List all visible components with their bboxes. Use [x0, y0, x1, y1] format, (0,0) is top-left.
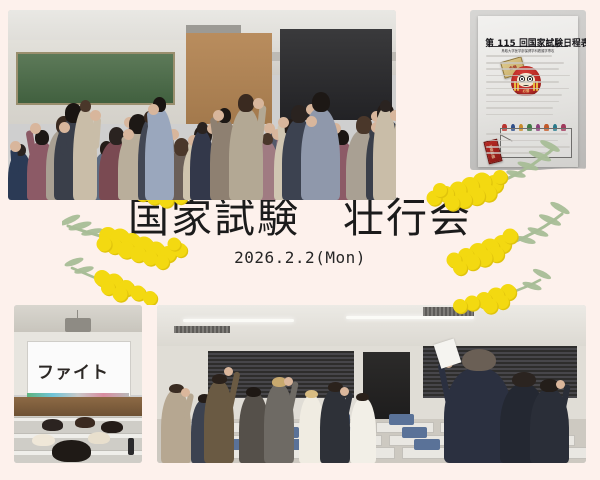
- crowd-silhouettes: [8, 86, 396, 200]
- raised-fist: [278, 117, 289, 128]
- poster-date: 2026.2.2(Mon): [0, 248, 600, 267]
- raised-arm: [437, 363, 451, 404]
- person-head: [462, 349, 496, 372]
- person-silhouette: [350, 398, 376, 463]
- person-head: [212, 374, 227, 384]
- document-text-line: [486, 146, 570, 148]
- person-head: [238, 94, 254, 112]
- person-head: [312, 92, 330, 112]
- water-bottle: [128, 438, 134, 455]
- hero-photo-group-cheering: [8, 10, 396, 200]
- daruma-mouth: [523, 83, 529, 85]
- student-head: [52, 440, 90, 461]
- person-head: [305, 390, 318, 399]
- projection-screen: ファイト: [27, 341, 131, 397]
- person-head: [512, 372, 536, 388]
- student-head: [101, 421, 123, 433]
- document-subtitle: 鳥取大学医学部保健学科看護学専攻: [487, 49, 570, 54]
- hero-photo-scene: [8, 10, 396, 200]
- raised-fist: [556, 380, 565, 389]
- raised-arm: [92, 117, 101, 149]
- document-text-line: [486, 94, 562, 96]
- raised-fist: [123, 129, 134, 140]
- student-head: [88, 432, 110, 444]
- raised-fist: [224, 367, 233, 376]
- faculty-scene: [157, 305, 586, 463]
- raised-fist: [284, 377, 293, 386]
- document-text-line: [486, 62, 564, 64]
- raised-fist: [30, 123, 41, 134]
- projector: [65, 318, 91, 332]
- document-text-line: [486, 140, 558, 142]
- person-head: [246, 387, 261, 397]
- screen-calligraphy-text: ファイト: [37, 358, 109, 383]
- red-tag-label: 必勝祈願: [485, 140, 502, 163]
- raised-fist: [10, 141, 21, 152]
- chalkboard-lower: [14, 397, 142, 416]
- poster-title: 国家試験 壮行会: [0, 198, 600, 239]
- document-text-line: [486, 133, 567, 135]
- daruma-label: 必勝: [519, 90, 533, 93]
- person-head: [80, 100, 91, 112]
- person-silhouette: [373, 108, 396, 200]
- document-text-line: [486, 114, 553, 116]
- raised-fist: [90, 110, 101, 121]
- document-text-line: [486, 68, 559, 70]
- projector-scene: ファイト: [14, 305, 142, 463]
- person-head: [291, 105, 307, 123]
- desks-and-students: [14, 416, 142, 463]
- person-head: [380, 100, 391, 112]
- people-silhouettes: [157, 305, 586, 463]
- student-head: [42, 419, 62, 430]
- document-text-line: [486, 152, 551, 154]
- faculty-cheering-photo: [157, 305, 586, 463]
- document-text-line: [486, 55, 552, 57]
- title-block: 国家試験 壮行会 2026.2.2(Mon): [0, 198, 600, 267]
- document-text-line: [486, 107, 553, 109]
- document-photo: 第 115 回国家試験日程表 鳥取大学医学部保健学科看護学専攻 合格: [470, 10, 586, 170]
- projector-screen-photo: ファイト: [14, 305, 142, 463]
- student-head: [75, 417, 94, 428]
- document-text-line: [486, 81, 559, 83]
- student-head: [32, 434, 55, 447]
- document-title: 第 115 回国家試験日程表: [485, 35, 570, 49]
- document-text-line: [486, 101, 559, 103]
- poster-canvas: 第 115 回国家試験日程表 鳥取大学医学部保健学科看護学専攻 合格: [0, 0, 600, 480]
- exam-schedule-sheet: 第 115 回国家試験日程表 鳥取大学医学部保健学科看護学専攻 合格: [478, 16, 578, 166]
